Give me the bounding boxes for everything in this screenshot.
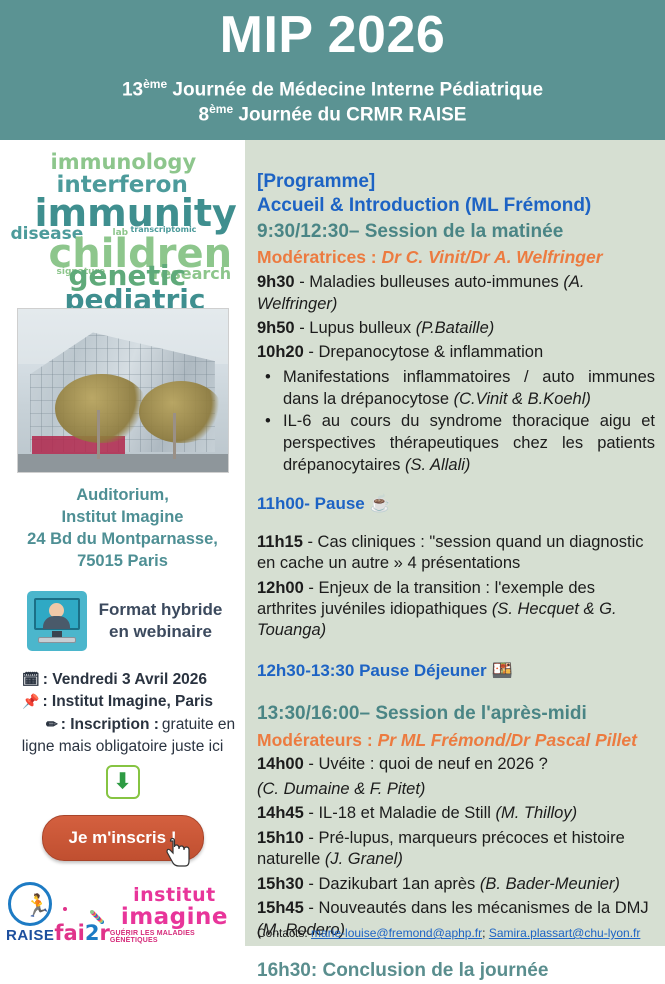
- bullet-speaker: (C.Vinit & B.Koehl): [454, 390, 591, 408]
- program-item-dash: -: [295, 319, 310, 337]
- bullet-text: IL-6 au cours du syndrome thoracique aig…: [283, 411, 655, 476]
- coffee-pause-line: 11h00- Pause ☕: [257, 493, 655, 515]
- event-date-text: : Vendredi 3 Avril 2026: [43, 669, 207, 691]
- afternoon-moderators: Modérateurs : Pr ML Frémond/Dr Pascal Pi…: [257, 729, 655, 752]
- venue-line-4: 75015 Paris: [27, 551, 218, 573]
- program-item-time: 15h10: [257, 829, 304, 847]
- register-button[interactable]: Je m'inscris !: [42, 815, 204, 861]
- program-item-speaker: (J. Granel): [325, 850, 403, 868]
- program-item-text: Uvéite : quoi de neuf en 2026 ?: [318, 755, 547, 773]
- bullet-dot-icon: •: [265, 411, 275, 476]
- event-info-block: 🗓 : Vendredi 3 Avril 2026 📌 : Institut I…: [8, 669, 237, 799]
- hybrid-format-block: Format hybride en webinaire: [23, 591, 223, 651]
- program-item: 12h00 - Enjeux de la transition : l'exem…: [257, 578, 655, 642]
- program-item-text: Maladies bulleuses auto-immunes: [309, 273, 563, 291]
- pencil-icon: ✏: [46, 717, 58, 731]
- program-item-time: 9h50: [257, 319, 295, 337]
- venue-line-3: 24 Bd du Montparnasse,: [27, 529, 218, 551]
- register-cta-wrap: Je m'inscris !: [8, 815, 237, 861]
- sidebar: immunologyinterferonimmunitydiseaselabtr…: [0, 140, 245, 946]
- word-cloud: immunologyinterferonimmunitydiseaselabtr…: [9, 150, 237, 300]
- contacts-line: Contacts: marie-louise@fremond@aphp.fr; …: [257, 926, 640, 940]
- subtitle-2-text: Journée du CRMR RAISE: [233, 104, 466, 125]
- monitor-base: [38, 637, 76, 643]
- raise-mark-icon: 🏃: [8, 882, 52, 926]
- contacts-separator: ;: [482, 926, 489, 940]
- program-item-time: 12h00: [257, 579, 304, 597]
- pushpin-icon: 📌: [22, 694, 39, 708]
- photo-tree-1: [55, 374, 147, 442]
- conclusion-line: 16h30: Conclusion de la journée: [257, 959, 655, 984]
- venue-line-2: Institut Imagine: [27, 507, 218, 529]
- program-item-time: 14h00: [257, 755, 304, 773]
- photo-trunk-1: [97, 410, 100, 459]
- program-item-time: 10h20: [257, 343, 304, 361]
- program-label: [Programme]: [257, 170, 655, 194]
- program-item: 15h30 - Dazikubart 1an après (B. Bader-M…: [257, 874, 655, 895]
- bullet-speaker: (S. Allali): [405, 456, 470, 474]
- program-item: 10h20 - Drepanocytose & inflammation: [257, 342, 655, 363]
- program-item-dash: -: [304, 829, 319, 847]
- hybrid-format-text: Format hybride en webinaire: [99, 599, 223, 643]
- registration-line-2: ligne mais obligatoire juste ici: [8, 736, 237, 758]
- program-item-time: 15h45: [257, 899, 304, 917]
- calendar-icon: 🗓: [22, 672, 40, 686]
- program-item: 11h15 - Cas cliniques : "session quand u…: [257, 532, 655, 575]
- imagine-line-1: institut: [133, 886, 216, 905]
- program-item-speaker: (B. Bader-Meunier): [480, 875, 620, 893]
- morning-bullets: •Manifestations inflammatoires / auto im…: [257, 366, 655, 477]
- program-item-dash: -: [304, 343, 319, 361]
- program-item-text: Lupus bulleux: [309, 319, 415, 337]
- fai2r-dot: [63, 907, 67, 911]
- raise-logo: 🏃 RAISE: [6, 882, 54, 944]
- program-bullet: •IL-6 au cours du syndrome thoracique ai…: [257, 411, 655, 476]
- coffee-cup-icon: ☕: [370, 493, 391, 515]
- poster-header: MIP 2026 13ème Journée de Médecine Inter…: [0, 0, 665, 140]
- program-item: 9h50 - Lupus bulleux (P.Bataille): [257, 318, 655, 339]
- fai2r-logo: fai2r: [54, 905, 110, 944]
- partner-logos: 🏃 RAISE fai2r institut imagine GUÉRIR LE…: [0, 882, 245, 944]
- event-date-line: 🗓 : Vendredi 3 Avril 2026: [8, 669, 237, 691]
- program-item-dash: -: [304, 579, 319, 597]
- venue-address: Auditorium, Institut Imagine 24 Bd du Mo…: [27, 485, 218, 573]
- morning-items: 9h30 - Maladies bulleuses auto-immunes (…: [257, 269, 655, 364]
- subtitle-1-text: Journée de Médecine Interne Pédiatrique: [167, 79, 543, 100]
- header-subtitle-2: 8ème Journée du CRMR RAISE: [199, 102, 467, 128]
- afternoon-moderators-label: Modérateurs :: [257, 730, 378, 750]
- poster-body: immunologyinterferonimmunitydiseaselabtr…: [0, 140, 665, 946]
- lunch-icon: 🍱: [492, 660, 513, 682]
- program-item-dash: -: [303, 533, 318, 551]
- program-item-dash: -: [304, 875, 319, 893]
- program-intro: Accueil & Introduction (ML Frémond): [257, 194, 655, 218]
- program-item-time: 15h30: [257, 875, 304, 893]
- program-item: (C. Dumaine & F. Pitet): [257, 779, 655, 800]
- bullet-text: Manifestations inflammatoires / auto imm…: [283, 367, 655, 411]
- event-place-text: : Institut Imagine, Paris: [42, 691, 213, 713]
- conference-poster: MIP 2026 13ème Journée de Médecine Inter…: [0, 0, 665, 946]
- contact-email-2[interactable]: Samira.plassart@chu-lyon.fr: [489, 926, 641, 940]
- raise-runner-icon: 🏃: [24, 894, 40, 918]
- program-item: 15h10 - Pré-lupus, marqueurs précoces et…: [257, 828, 655, 871]
- program-bullet: •Manifestations inflammatoires / auto im…: [257, 367, 655, 411]
- program-item-text: Nouveautés dans les mécanismes de la DMJ: [318, 899, 648, 917]
- afternoon-session-header: 13:30/16:00– Session de l'après-midi: [257, 702, 655, 727]
- program-item-time: 9h30: [257, 273, 295, 291]
- hybrid-line-2: en webinaire: [99, 621, 223, 643]
- subtitle-2-ordinal: ème: [209, 102, 233, 116]
- lunch-pause-line: 12h30-13:30 Pause Déjeuner 🍱: [257, 660, 655, 682]
- registration-line: ✏ : Inscription : gratuite en: [8, 714, 237, 736]
- program-item-dash: -: [295, 273, 310, 291]
- morning-moderators-names: Dr C. Vinit/Dr A. Welfringer: [381, 247, 602, 267]
- monitor-person-body: [43, 616, 70, 629]
- registration-value: gratuite en: [162, 714, 235, 736]
- program-item-speaker: (P.Bataille): [416, 319, 495, 337]
- contacts-label: Contacts:: [257, 926, 311, 940]
- institut-imagine-logo: institut imagine GUÉRIR LES MALADIES GÉN…: [110, 886, 239, 944]
- afternoon-moderators-names: Pr ML Frémond/Dr Pascal Pillet: [378, 730, 637, 750]
- subtitle-2-number: 8: [199, 104, 210, 125]
- fai2r-two: 2: [85, 921, 100, 945]
- fai2r-logo-text: fai2r: [54, 923, 110, 944]
- program-item-text: Dazikubart 1an après: [318, 875, 479, 893]
- program-item-time: 14h45: [257, 804, 304, 822]
- subtitle-1-number: 13: [122, 79, 143, 100]
- word-cloud-term: immunology: [51, 152, 197, 173]
- morning-items-2: 11h15 - Cas cliniques : "session quand u…: [257, 529, 655, 642]
- institut-imagine-building-photo: [17, 308, 229, 473]
- photo-trunk-2: [173, 413, 176, 459]
- event-place-line: 📌 : Institut Imagine, Paris: [8, 691, 237, 713]
- webinar-monitor-icon: [27, 591, 87, 651]
- contact-email-1[interactable]: marie-louise@fremond@aphp.fr: [311, 926, 482, 940]
- page-title: MIP 2026: [220, 6, 446, 66]
- program-item: 14h45 - IL-18 et Maladie de Still (M. Th…: [257, 803, 655, 824]
- program-item-dash: -: [304, 755, 319, 773]
- photo-street: [18, 454, 228, 472]
- imagine-tagline: GUÉRIR LES MALADIES GÉNÉTIQUES: [110, 930, 239, 944]
- photo-tree-2: [139, 381, 223, 443]
- afternoon-items: 14h00 - Uvéite : quoi de neuf en 2026 ?(…: [257, 751, 655, 941]
- header-subtitle-1: 13ème Journée de Médecine Interne Pédiat…: [122, 77, 543, 102]
- program-item-time: 11h15: [257, 533, 303, 551]
- program-item-text: Drepanocytose & inflammation: [318, 343, 543, 361]
- fai2r-dots-icon: [59, 905, 105, 923]
- program-item: 9h30 - Maladies bulleuses auto-immunes (…: [257, 272, 655, 315]
- program-panel: [Programme] Accueil & Introduction (ML F…: [245, 140, 665, 946]
- venue-line-1: Auditorium,: [27, 485, 218, 507]
- hybrid-line-1: Format hybride: [99, 599, 223, 621]
- lunch-pause-text: 12h30-13:30 Pause Déjeuner: [257, 660, 487, 682]
- imagine-line-2: imagine: [121, 905, 228, 929]
- subtitle-1-ordinal: ème: [143, 77, 167, 91]
- coffee-pause-text: 11h00- Pause: [257, 493, 365, 515]
- raise-logo-text: RAISE: [6, 927, 54, 944]
- program-item-text: IL-18 et Maladie de Still: [318, 804, 495, 822]
- morning-moderators: Modératrices : Dr C. Vinit/Dr A. Welfrin…: [257, 246, 655, 269]
- program-item-speaker: (M. Thilloy): [495, 804, 577, 822]
- bullet-dot-icon: •: [265, 367, 275, 411]
- program-item: 14h00 - Uvéite : quoi de neuf en 2026 ?: [257, 754, 655, 775]
- morning-moderators-label: Modératrices :: [257, 247, 381, 267]
- morning-session-header: 9:30/12:30– Session de la matinée: [257, 220, 655, 245]
- down-arrow-icon[interactable]: ⬇: [106, 765, 140, 799]
- fai2r-prefix: fai: [54, 921, 85, 945]
- program-item-speaker: (C. Dumaine & F. Pitet): [257, 780, 425, 798]
- fai2r-suffix: r: [99, 921, 109, 945]
- registration-label: : Inscription :: [61, 714, 159, 736]
- program-item-dash: -: [304, 899, 319, 917]
- program-item-dash: -: [304, 804, 319, 822]
